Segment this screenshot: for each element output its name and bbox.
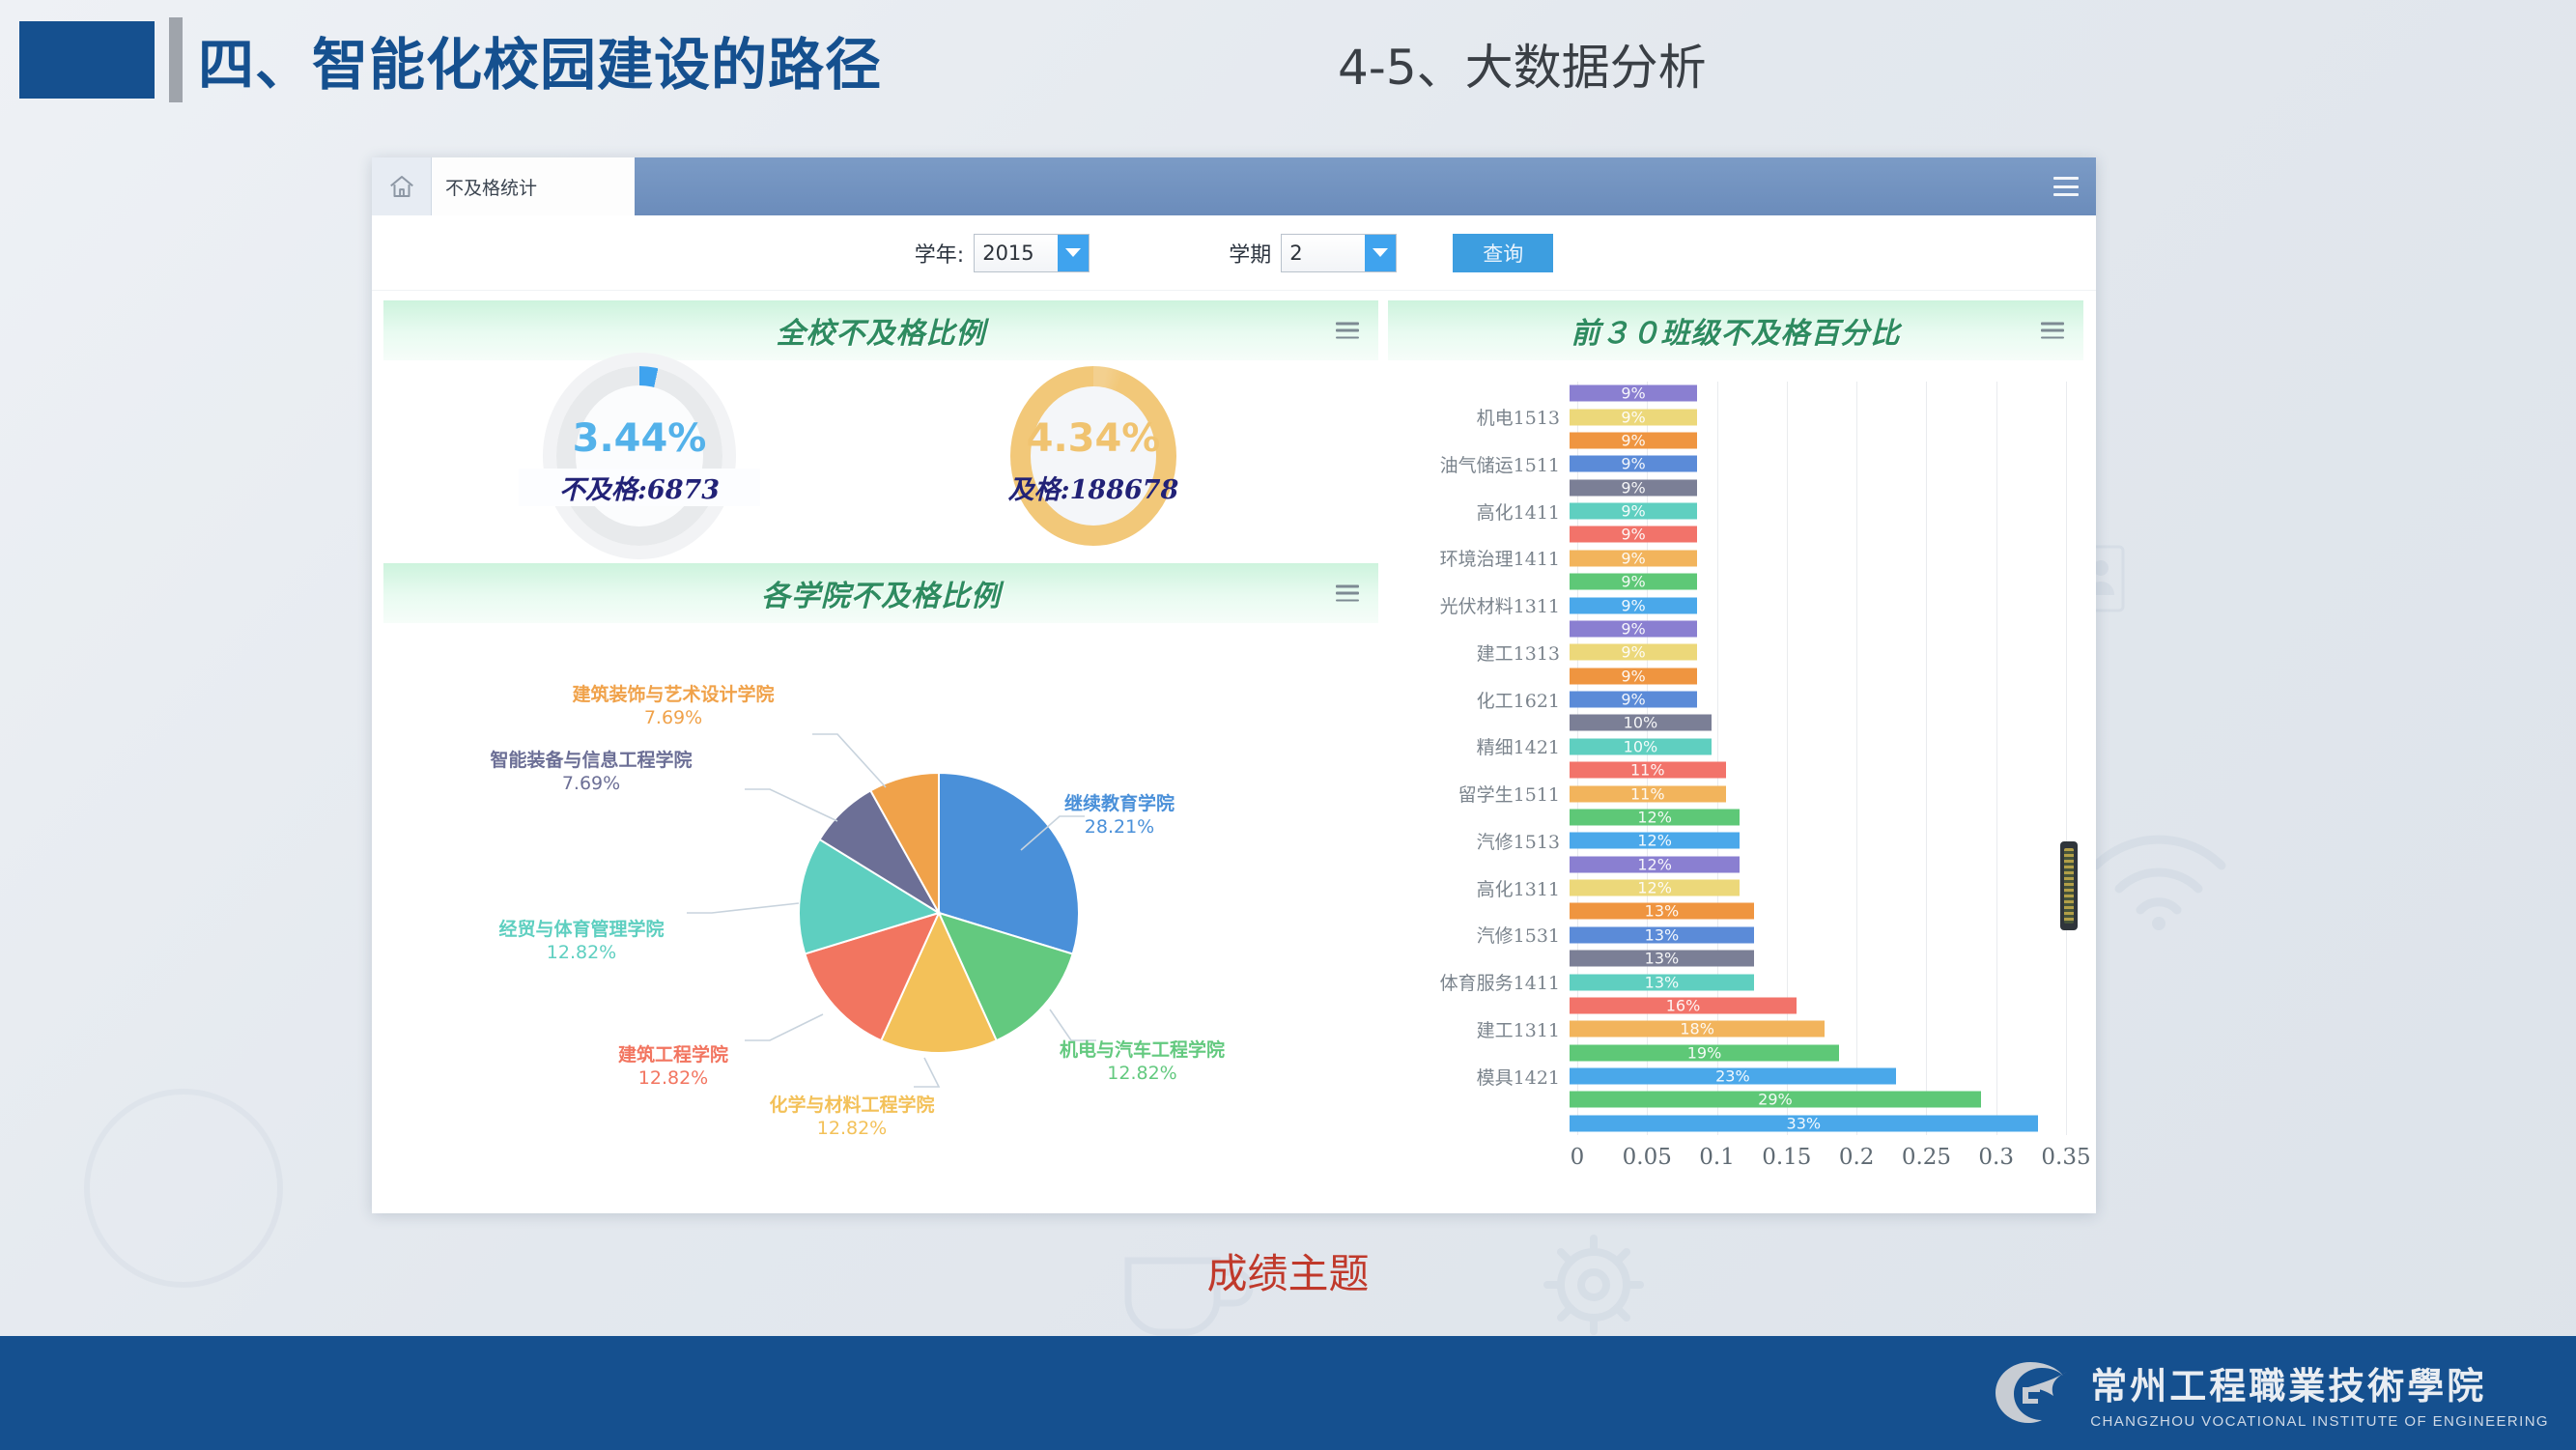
pie-slice-label: 建筑装饰与艺术设计学院7.69% (572, 683, 774, 730)
bar-row[interactable]: 11% (1388, 758, 2066, 782)
bar-value-label: 11% (1630, 761, 1665, 780)
bar-row[interactable]: 环境治理14119% (1388, 547, 2066, 570)
bar-value-label: 11% (1630, 784, 1665, 803)
school-crest-icon (1986, 1356, 2075, 1430)
bar-row[interactable]: 16% (1388, 994, 2066, 1017)
bar-value-label: 9% (1621, 643, 1645, 662)
pie-chart-area: 继续教育学院28.21%机电与汽车工程学院12.82%化学与材料工程学院12.8… (383, 623, 1378, 1193)
pie-label-value: 12.82% (1060, 1062, 1225, 1085)
pie-label-name: 继续教育学院 (1064, 792, 1175, 815)
pie-label-name: 机电与汽车工程学院 (1060, 1038, 1225, 1062)
bar-value-label: 9% (1621, 408, 1645, 426)
home-icon (387, 172, 416, 201)
bar-track: 12% (1570, 853, 2066, 876)
bar-row[interactable]: 化工16219% (1388, 688, 2066, 711)
bar-row[interactable]: 19% (1388, 1041, 2066, 1065)
bar-value-label: 13% (1645, 973, 1680, 991)
bar-category-label: 体育服务1411 (1388, 969, 1570, 995)
bar-value-label: 9% (1621, 573, 1645, 591)
bar-track: 33% (1570, 1112, 2066, 1135)
pie-slice-label: 经贸与体育管理学院12.82% (498, 918, 664, 965)
bar-track: 11% (1570, 758, 2066, 782)
header-blue-block (19, 21, 155, 99)
bar-value-label: 33% (1787, 1114, 1822, 1132)
x-axis-tick: 0.2 (1839, 1145, 1875, 1170)
bar-fill[interactable]: 16% (1570, 997, 1797, 1013)
gauge-area: 3.44% 不及格:6873 4.34% 及格:188678 (383, 360, 1378, 548)
bar-value-label: 9% (1621, 619, 1645, 638)
school-name-en: CHANGZHOU VOCATIONAL INSTITUTE OF ENGINE… (2090, 1413, 2549, 1430)
bar-value-label: 12% (1637, 832, 1672, 850)
year-value: 2015 (975, 235, 1058, 271)
bar-value-label: 9% (1621, 596, 1645, 614)
bar-row[interactable]: 9% (1388, 617, 2066, 640)
pie-leader-line (687, 903, 799, 913)
bar-row[interactable]: 13% (1388, 947, 2066, 970)
bar-chart-area: 9%机电15139%9%油气储运15119%9%高化14119%9%环境治理14… (1388, 360, 2083, 1193)
bar-value-label: 12% (1637, 879, 1672, 897)
bar-row[interactable]: 体育服务141113% (1388, 970, 2066, 993)
bar-fill[interactable]: 12% (1570, 880, 1740, 896)
bar-row[interactable]: 33% (1388, 1112, 2066, 1135)
bar-row[interactable]: 12% (1388, 853, 2066, 876)
app-body: 全校不及格比例 3.44% 不及格:6873 4.34% 及格:188678 (372, 291, 2096, 1213)
bar-row[interactable]: 29% (1388, 1088, 2066, 1111)
x-axis-tick: 0.1 (1699, 1145, 1735, 1170)
bar-value-label: 9% (1621, 691, 1645, 709)
bar-track: 9% (1570, 688, 2066, 711)
bar-value-label: 13% (1645, 950, 1680, 968)
app-topbar: 不及格统计 (372, 157, 2096, 215)
pie-label-value: 7.69% (490, 772, 692, 795)
bar-row[interactable]: 精细142110% (1388, 735, 2066, 758)
bar-category-label: 模具1421 (1388, 1064, 1570, 1090)
hamburger-icon[interactable] (2041, 323, 2064, 339)
pie-label-name: 建筑装饰与艺术设计学院 (572, 683, 774, 706)
bar-track: 9% (1570, 617, 2066, 640)
bar-value-label: 9% (1621, 384, 1645, 403)
bar-category-label: 油气储运1511 (1388, 451, 1570, 477)
home-button[interactable] (372, 157, 432, 215)
bar-fill[interactable]: 12% (1570, 856, 1740, 872)
bar-track: 18% (1570, 1017, 2066, 1040)
pie-label-value: 7.69% (572, 706, 774, 729)
hamburger-icon[interactable] (1336, 585, 1359, 602)
panel-overall-header: 全校不及格比例 (383, 300, 1378, 360)
bar-fill[interactable]: 12% (1570, 833, 1740, 849)
app-menu-icon[interactable] (2053, 177, 2079, 196)
bar-category-label: 精细1421 (1388, 733, 1570, 759)
gauge-passing-count: 及格:188678 (973, 469, 1214, 506)
pie-label-value: 12.82% (498, 941, 664, 964)
pie-slice-label: 智能装备与信息工程学院7.69% (490, 749, 692, 796)
bar-fill[interactable]: 23% (1570, 1068, 1896, 1085)
bar-track: 9% (1570, 476, 2066, 499)
bar-value-label: 9% (1621, 431, 1645, 449)
gauge-failing-percent: 3.44% (519, 416, 760, 461)
bar-track: 9% (1570, 405, 2066, 428)
bar-row[interactable]: 机电15139% (1388, 405, 2066, 428)
bar-row[interactable]: 油气储运15119% (1388, 452, 2066, 475)
bar-row[interactable]: 留学生151111% (1388, 782, 2066, 805)
bar-track: 9% (1570, 523, 2066, 546)
gridline (2066, 382, 2067, 1135)
pie-slice-label: 建筑工程学院12.82% (618, 1043, 728, 1091)
pie-slice-label: 继续教育学院28.21% (1064, 792, 1175, 839)
bar-fill[interactable]: 33% (1570, 1115, 2038, 1131)
bar-value-label: 9% (1621, 502, 1645, 521)
query-button[interactable]: 查询 (1453, 234, 1553, 272)
bar-value-label: 12% (1637, 808, 1672, 826)
bar-fill[interactable]: 9% (1570, 668, 1697, 684)
bar-fill[interactable]: 11% (1570, 762, 1726, 779)
gauge-failing-count: 不及格:6873 (519, 469, 760, 506)
bar-value-label: 29% (1758, 1091, 1793, 1109)
bar-row[interactable]: 汽修153113% (1388, 924, 2066, 947)
bar-row[interactable]: 光伏材料13119% (1388, 593, 2066, 616)
bar-fill[interactable]: 13% (1570, 903, 1754, 920)
app-window: 不及格统计 学年: 2015 学期 2 查询 全校不及格比例 (372, 157, 2096, 1213)
year-label: 学年: (915, 238, 964, 269)
tab-failing-statistics[interactable]: 不及格统计 (432, 157, 635, 215)
bar-category-label: 高化1311 (1388, 875, 1570, 901)
pie-label-name: 经贸与体育管理学院 (498, 918, 664, 941)
bar-fill[interactable]: 9% (1570, 550, 1697, 566)
bar-category-label: 机电1513 (1388, 404, 1570, 430)
bar-row[interactable]: 高化14119% (1388, 499, 2066, 523)
gauge-failing: 3.44% 不及格:6873 (519, 366, 760, 546)
bar-row[interactable]: 9% (1388, 665, 2066, 688)
bar-chart-x-axis: 00.050.10.150.20.250.30.35 (1577, 1145, 2066, 1178)
device-indicator (2060, 841, 2078, 930)
bar-track: 10% (1570, 711, 2066, 734)
bar-row[interactable]: 12% (1388, 806, 2066, 829)
slide-footer: 常州工程職業技術學院 CHANGZHOU VOCATIONAL INSTITUT… (0, 1336, 2576, 1450)
pie-label-value: 12.82% (769, 1117, 934, 1140)
bar-row[interactable]: 建工13139% (1388, 640, 2066, 664)
x-axis-tick: 0 (1571, 1145, 1585, 1170)
panel-top30-failing-percent: 前３０班级不及格百分比 9%机电15139%9%油气储运15119%9%高化14… (1388, 300, 2083, 1193)
bar-row[interactable]: 汽修151312% (1388, 829, 2066, 852)
bar-track: 9% (1570, 499, 2066, 523)
bar-fill[interactable]: 9% (1570, 574, 1697, 590)
slide-caption: 成绩主题 (0, 1241, 2576, 1300)
bar-value-label: 9% (1621, 455, 1645, 473)
bar-value-label: 19% (1687, 1043, 1722, 1062)
bar-value-label: 12% (1637, 855, 1672, 873)
bar-category-label: 建工1311 (1388, 1016, 1570, 1042)
bar-fill[interactable]: 9% (1570, 526, 1697, 543)
bar-fill[interactable]: 9% (1570, 597, 1697, 613)
bar-track: 12% (1570, 829, 2066, 852)
pie-leader-line (812, 734, 886, 787)
pie-label-name: 化学与材料工程学院 (769, 1094, 934, 1117)
bar-value-label: 18% (1680, 1020, 1714, 1038)
bar-track: 9% (1570, 593, 2066, 616)
bar-row[interactable]: 9% (1388, 429, 2066, 452)
bar-row[interactable]: 9% (1388, 476, 2066, 499)
bar-track: 9% (1570, 429, 2066, 452)
year-filter: 学年: 2015 (915, 234, 1090, 272)
bar-fill[interactable]: 9% (1570, 479, 1697, 496)
bar-track: 9% (1570, 570, 2066, 593)
bar-value-label: 16% (1666, 996, 1701, 1014)
term-filter: 学期 2 (1229, 234, 1397, 272)
bar-track: 13% (1570, 970, 2066, 993)
bar-value-label: 13% (1645, 925, 1680, 944)
bar-fill[interactable]: 13% (1570, 951, 1754, 967)
page-title: 四、智能化校园建设的路径 (198, 19, 882, 100)
chevron-down-icon[interactable] (1365, 235, 1396, 271)
bar-fill[interactable]: 29% (1570, 1092, 1981, 1108)
filter-bar: 学年: 2015 学期 2 查询 (372, 215, 2096, 291)
pie-label-name: 智能装备与信息工程学院 (490, 749, 692, 772)
bar-row[interactable]: 10% (1388, 711, 2066, 734)
pie-leader-line (745, 1014, 823, 1040)
bar-track: 11% (1570, 782, 2066, 805)
bar-category-label: 环境治理1411 (1388, 545, 1570, 571)
bar-value-label: 9% (1621, 478, 1645, 497)
bar-fill[interactable]: 11% (1570, 785, 1726, 802)
school-logo: 常州工程職業技術學院 CHANGZHOU VOCATIONAL INSTITUT… (1986, 1356, 2549, 1430)
bar-fill[interactable]: 9% (1570, 644, 1697, 661)
bar-track: 9% (1570, 452, 2066, 475)
bar-value-label: 10% (1624, 714, 1658, 732)
bar-fill[interactable]: 9% (1570, 456, 1697, 472)
bar-fill[interactable]: 9% (1570, 385, 1697, 402)
bar-fill[interactable]: 10% (1570, 715, 1712, 731)
bar-value-label: 9% (1621, 526, 1645, 544)
panel-college-header: 各学院不及格比例 (383, 563, 1378, 623)
bar-category-label: 汽修1531 (1388, 922, 1570, 948)
panel-overall-failing-ratio: 全校不及格比例 3.44% 不及格:6873 4.34% 及格:188678 (383, 300, 1378, 548)
gauge-passing-percent: 4.34% (973, 416, 1214, 461)
bar-fill[interactable]: 13% (1570, 974, 1754, 990)
bar-track: 13% (1570, 924, 2066, 947)
bar-fill[interactable]: 12% (1570, 809, 1740, 825)
bar-row[interactable]: 高化131112% (1388, 876, 2066, 899)
bar-fill[interactable]: 10% (1570, 738, 1712, 754)
bar-track: 12% (1570, 806, 2066, 829)
tab-label: 不及格统计 (445, 174, 537, 200)
bar-row[interactable]: 9% (1388, 523, 2066, 546)
school-name-block: 常州工程職業技術學院 CHANGZHOU VOCATIONAL INSTITUT… (2090, 1356, 2549, 1430)
bar-value-label: 9% (1621, 667, 1645, 685)
bar-fill[interactable]: 19% (1570, 1044, 1839, 1061)
bar-fill[interactable]: 9% (1570, 409, 1697, 425)
pie-label-value: 28.21% (1064, 815, 1175, 839)
bar-track: 9% (1570, 547, 2066, 570)
pie-leader-line (914, 1058, 939, 1087)
bar-category-label: 汽修1513 (1388, 828, 1570, 854)
bar-value-label: 10% (1624, 737, 1658, 755)
bar-chart-rows: 9%机电15139%9%油气储运15119%9%高化14119%9%环境治理14… (1388, 382, 2066, 1135)
bar-track: 10% (1570, 735, 2066, 758)
bar-value-label: 9% (1621, 549, 1645, 567)
panel-college-failing-ratio: 各学院不及格比例 继续教育学院28.21%机电与汽车工程学院12.82%化学与材… (383, 563, 1378, 1193)
pie-slice-label: 化学与材料工程学院12.82% (769, 1094, 934, 1141)
x-axis-tick: 0.3 (1978, 1145, 2014, 1170)
bar-category-label: 光伏材料1311 (1388, 592, 1570, 618)
bar-row[interactable]: 13% (1388, 899, 2066, 923)
bar-row[interactable]: 9% (1388, 570, 2066, 593)
bar-fill[interactable]: 9% (1570, 432, 1697, 448)
bar-fill[interactable]: 13% (1570, 926, 1754, 943)
term-select[interactable]: 2 (1281, 234, 1397, 272)
bar-fill[interactable]: 18% (1570, 1021, 1825, 1038)
hamburger-icon[interactable] (1336, 323, 1359, 339)
page-subtitle: 4-5、大数据分析 (1338, 29, 1707, 99)
year-select[interactable]: 2015 (974, 234, 1090, 272)
bar-track: 13% (1570, 899, 2066, 923)
x-axis-tick: 0.15 (1762, 1145, 1811, 1170)
bar-track: 9% (1570, 382, 2066, 405)
chevron-down-icon[interactable] (1058, 235, 1089, 271)
bar-row[interactable]: 建工131118% (1388, 1017, 2066, 1040)
watermark-wifi-icon (2077, 821, 2241, 937)
bar-value-label: 23% (1715, 1067, 1750, 1086)
bar-row[interactable]: 模具142123% (1388, 1065, 2066, 1088)
bar-track: 29% (1570, 1088, 2066, 1111)
bar-fill[interactable]: 9% (1570, 503, 1697, 520)
pie-leader-line (745, 789, 837, 821)
pie-leader-line (1050, 1009, 1096, 1040)
panel-top30-title: 前３０班级不及格百分比 (1571, 309, 1901, 352)
bar-track: 12% (1570, 876, 2066, 899)
panel-college-title: 各学院不及格比例 (761, 572, 1001, 614)
panel-top30-header: 前３０班级不及格百分比 (1388, 300, 2083, 360)
bar-track: 9% (1570, 665, 2066, 688)
bar-track: 9% (1570, 640, 2066, 664)
x-axis-tick: 0.25 (1902, 1145, 1951, 1170)
bar-track: 19% (1570, 1041, 2066, 1065)
school-name-cn: 常州工程職業技術學院 (2090, 1356, 2549, 1409)
bar-fill[interactable]: 9% (1570, 620, 1697, 637)
x-axis-tick: 0.35 (2041, 1145, 2090, 1170)
bar-category-label: 高化1411 (1388, 498, 1570, 525)
term-label: 学期 (1229, 238, 1271, 269)
bar-track: 13% (1570, 947, 2066, 970)
bar-category-label: 建工1313 (1388, 640, 1570, 666)
bar-category-label: 留学生1511 (1388, 781, 1570, 807)
gauge-passing: 4.34% 及格:188678 (973, 366, 1214, 546)
pie-slice-label: 机电与汽车工程学院12.82% (1060, 1038, 1225, 1086)
bar-fill[interactable]: 9% (1570, 692, 1697, 708)
bar-row[interactable]: 9% (1388, 382, 2066, 405)
x-axis-tick: 0.05 (1623, 1145, 1672, 1170)
bar-category-label: 化工1621 (1388, 687, 1570, 713)
term-value: 2 (1282, 235, 1365, 271)
bar-track: 23% (1570, 1065, 2066, 1088)
bar-value-label: 13% (1645, 902, 1680, 921)
pie-label-value: 12.82% (618, 1066, 728, 1090)
header-grey-bar (169, 17, 183, 102)
slide-header: 四、智能化校园建设的路径 4-5、大数据分析 (0, 0, 2576, 135)
pie-label-name: 建筑工程学院 (618, 1043, 728, 1066)
panel-overall-title: 全校不及格比例 (777, 309, 986, 352)
bar-track: 16% (1570, 994, 2066, 1017)
